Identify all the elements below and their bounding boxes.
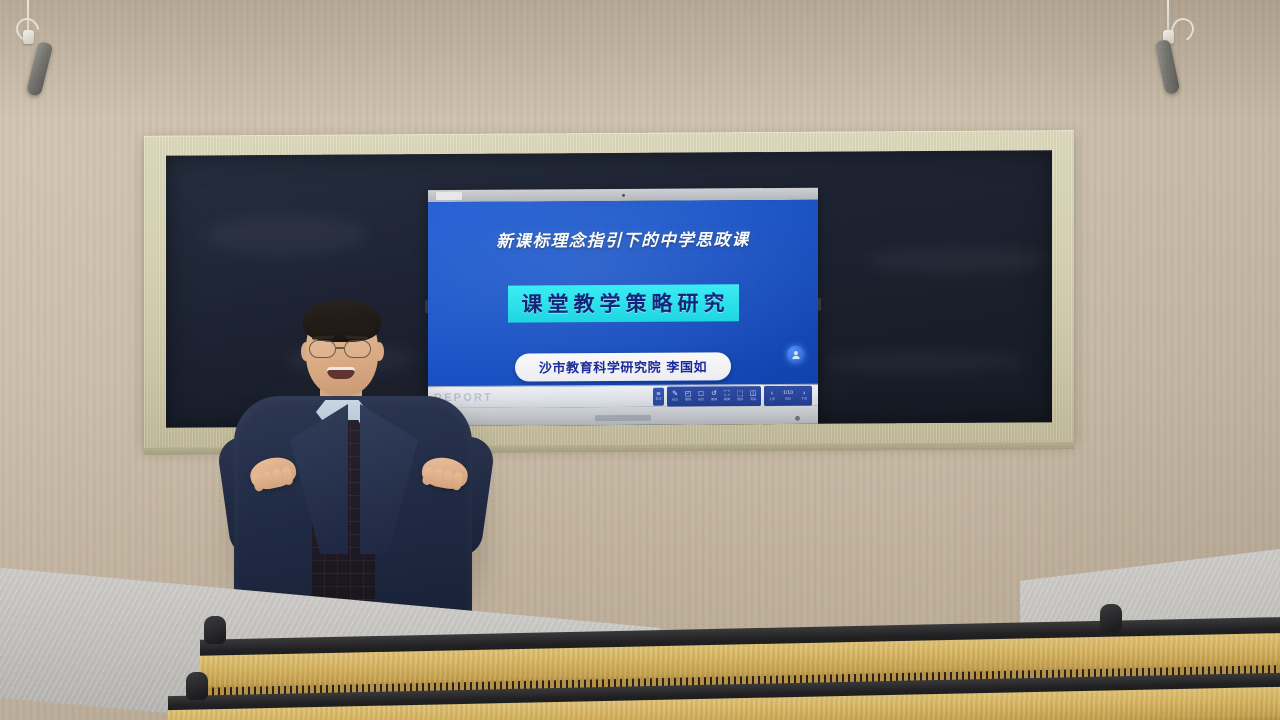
user-badge-icon[interactable] (787, 346, 804, 363)
microphone-cable (1167, 0, 1169, 34)
power-led-icon (795, 416, 800, 421)
slide-presenter-affiliation: 沙市教育科学研究院 李国如 (515, 352, 731, 381)
chalk-smudge (866, 246, 1046, 273)
shape-icon[interactable]: ◻ 形状 (695, 388, 707, 404)
panel-toolbar[interactable]: ≡ 批注 ✎ 批注 ◰ 擦除 (653, 385, 812, 406)
annotation-tool-group[interactable]: ✎ 批注 ◰ 擦除 ◻ 形状 (667, 386, 761, 407)
microphone-clip (23, 30, 34, 44)
eyeglasses-bridge (336, 347, 344, 349)
navigation-tool-group[interactable]: ‹ 上页 1/10 页码 › 下页 (764, 385, 812, 405)
slide-subtitle: 课堂教学策略研究 (508, 284, 739, 322)
eraser-icon[interactable]: ◰ 擦除 (682, 388, 694, 404)
toolbar-menu-button[interactable]: ≡ 批注 (653, 387, 664, 405)
ceiling-shadow (0, 0, 1280, 120)
eyeglasses-lens-left (309, 340, 336, 358)
panel-brand-chip (436, 192, 462, 200)
desk-row-1-end-cap-left[interactable] (204, 616, 226, 644)
desk-row-2-end-cap-left[interactable] (186, 672, 208, 700)
undo-icon[interactable]: ↺ 撤销 (708, 388, 720, 404)
toolbar-menu-label: 批注 (655, 398, 661, 402)
eyeglasses-lens-right (344, 340, 371, 358)
panel-brand-label (595, 415, 651, 421)
chalk-smudge (826, 350, 1026, 373)
classroom-photo-scene: 新课标理念指引下的中学思政课 课堂教学策略研究 沙市教育科学研究院 李国如 (0, 0, 1280, 720)
desk-row-1-end-cap-right[interactable] (1100, 604, 1122, 632)
presenter-mouth (327, 367, 355, 379)
select-icon[interactable]: ⬚ 选择 (734, 388, 746, 404)
panel-sensor (622, 194, 625, 197)
slide-title: 新课标理念指引下的中学思政课 (428, 226, 818, 252)
capture-icon[interactable]: ⛶ 截屏 (721, 388, 733, 404)
arrow-right-icon[interactable]: › 下页 (798, 387, 810, 403)
page-count-icon: 1/10 页码 (779, 387, 797, 403)
clear-icon[interactable]: ◫ 清除 (747, 388, 759, 404)
chalk-smudge (206, 214, 366, 255)
pen-icon[interactable]: ✎ 批注 (669, 388, 681, 404)
arrow-left-icon[interactable]: ‹ 上页 (766, 387, 778, 403)
